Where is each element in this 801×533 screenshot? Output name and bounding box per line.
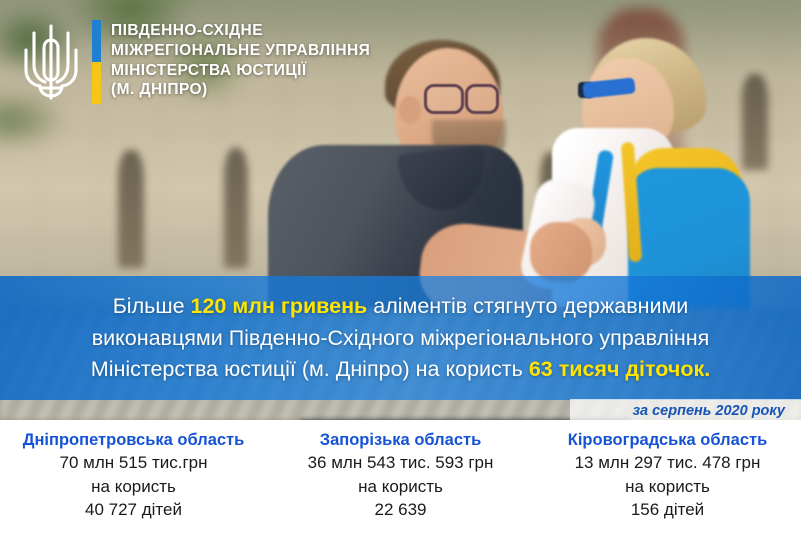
headline-line-3-pre: Міністерства юстиції (м. Дніпро) на кори… bbox=[91, 357, 529, 381]
period-box: за серпень 2020 року bbox=[570, 399, 801, 422]
ukraine-trident-icon bbox=[20, 20, 82, 104]
region-amount: 36 млн 543 тис. 593 грн bbox=[271, 451, 530, 474]
org-line-2: МІЖРЕГІОНАЛЬНЕ УПРАВЛІННЯ bbox=[111, 41, 370, 61]
stat-column-zaporizka: Запорізька область 36 млн 543 тис. 593 г… bbox=[267, 429, 534, 522]
region-children-count: 22 639 bbox=[271, 498, 530, 521]
man-glasses-icon bbox=[465, 84, 499, 114]
headline-line-1: Більше 120 млн гривень аліментів стягнут… bbox=[113, 292, 689, 321]
organization-name: ПІВДЕННО-СХІДНЕ МІЖРЕГІОНАЛЬНЕ УПРАВЛІНН… bbox=[111, 20, 370, 100]
headline-text: Більше 120 млн гривень аліментів стягнут… bbox=[0, 276, 801, 400]
headline-children-highlight: 63 тисяч діточок. bbox=[529, 357, 710, 381]
stat-column-kirovohradska: Кіровоградська область 13 млн 297 тис. 4… bbox=[534, 429, 801, 522]
org-line-3: МІНІСТЕРСТВА ЮСТИЦІЇ bbox=[111, 61, 370, 81]
region-name: Дніпропетровська область bbox=[4, 429, 263, 451]
region-name: Запорізька область bbox=[271, 429, 530, 451]
headline-line-3: Міністерства юстиції (м. Дніпро) на кори… bbox=[91, 355, 710, 384]
region-for-label: на користь bbox=[538, 475, 797, 498]
region-name: Кіровоградська область bbox=[538, 429, 797, 451]
man-glasses-icon bbox=[424, 84, 464, 114]
building-window bbox=[742, 74, 768, 170]
man-ear bbox=[399, 96, 421, 124]
headline-banner: Більше 120 млн гривень аліментів стягнут… bbox=[0, 276, 801, 400]
building-window bbox=[224, 148, 248, 268]
infographic-poster: ПІВДЕННО-СХІДНЕ МІЖРЕГІОНАЛЬНЕ УПРАВЛІНН… bbox=[0, 0, 801, 533]
headline-amount-highlight: 120 млн гривень bbox=[191, 294, 368, 318]
statistics-row: Дніпропетровська область 70 млн 515 тис.… bbox=[0, 420, 801, 533]
region-children-count: 40 727 дітей bbox=[4, 498, 263, 521]
org-line-1: ПІВДЕННО-СХІДНЕ bbox=[111, 21, 370, 41]
headline-line-1-pre: Більше bbox=[113, 294, 191, 318]
region-children-count: 156 дітей bbox=[538, 498, 797, 521]
handshake bbox=[530, 222, 592, 282]
region-for-label: на користь bbox=[271, 475, 530, 498]
headline-line-1-post: аліментів стягнуто державними bbox=[367, 294, 688, 318]
org-line-4: (М. ДНІПРО) bbox=[111, 80, 370, 100]
headline-line-2: виконавцями Південно-Східного міжрегіона… bbox=[92, 324, 710, 353]
organization-logo-block: ПІВДЕННО-СХІДНЕ МІЖРЕГІОНАЛЬНЕ УПРАВЛІНН… bbox=[20, 20, 370, 104]
ukraine-flag-bar-icon bbox=[92, 20, 101, 104]
stat-column-dnipropetrovska: Дніпропетровська область 70 млн 515 тис.… bbox=[0, 429, 267, 522]
building-window bbox=[118, 150, 144, 268]
region-amount: 70 млн 515 тис.грн bbox=[4, 451, 263, 474]
region-amount: 13 млн 297 тис. 478 грн bbox=[538, 451, 797, 474]
region-for-label: на користь bbox=[4, 475, 263, 498]
period-label: за серпень 2020 року bbox=[633, 403, 785, 419]
